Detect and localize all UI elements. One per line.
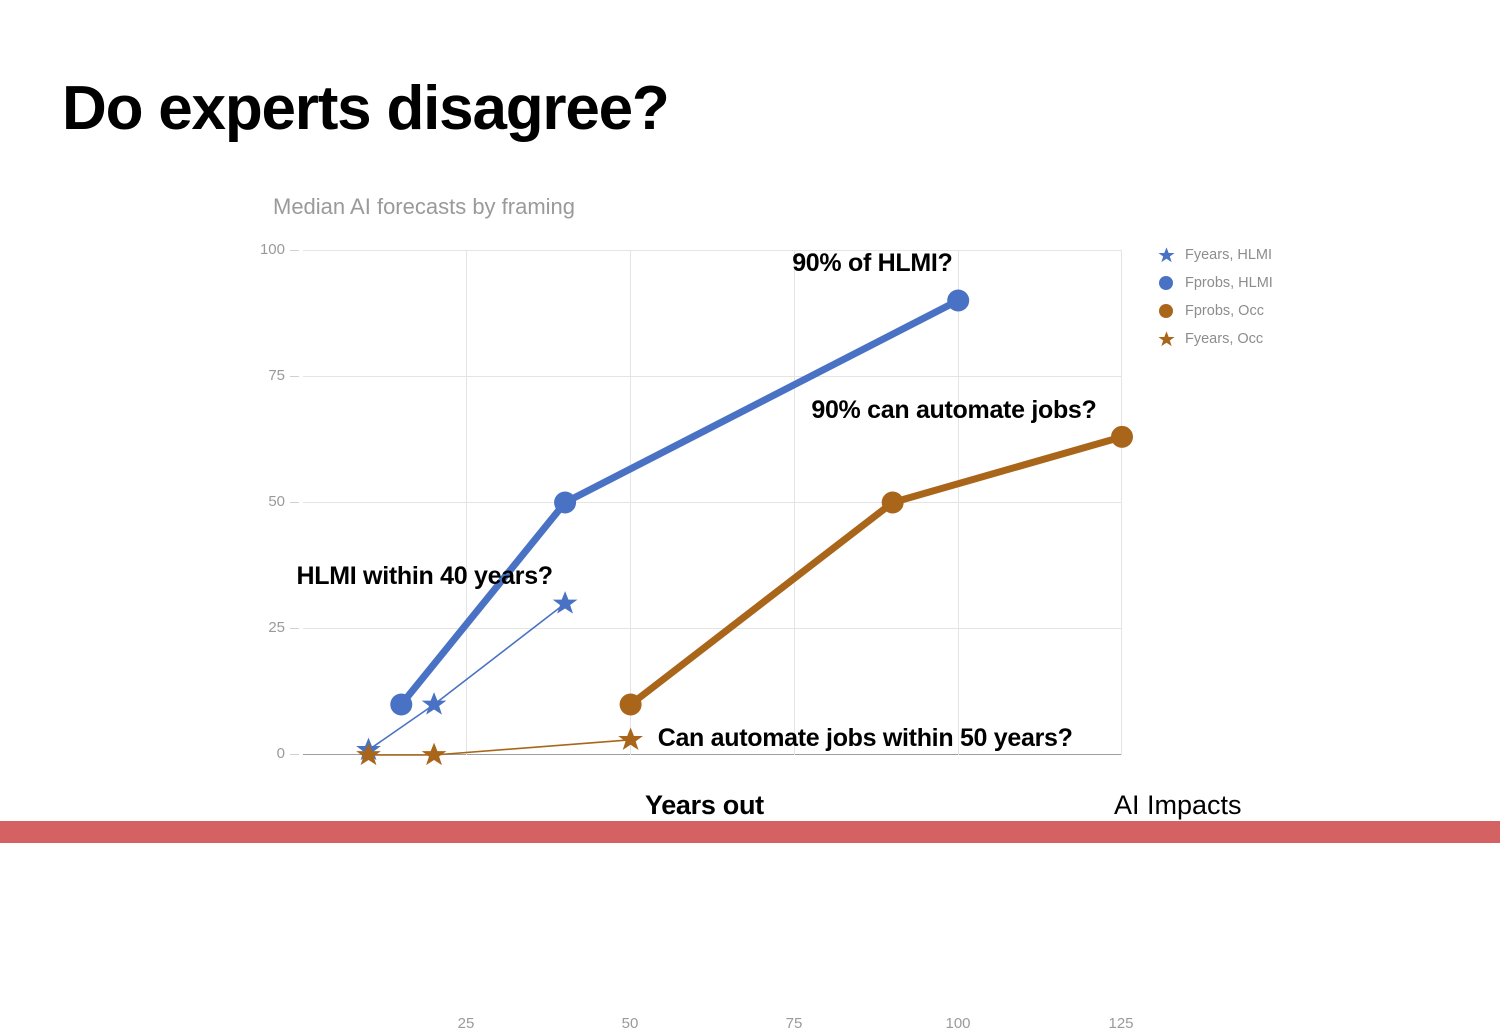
- x-axis-title: Years out: [645, 790, 764, 821]
- data-point-circle[interactable]: [1111, 426, 1133, 448]
- xtick-label-50: 50: [600, 1015, 660, 1032]
- ytick-label-100: 100: [245, 241, 285, 258]
- series-layer: [303, 250, 1122, 755]
- ytick-dash-100: [290, 250, 299, 251]
- data-point-circle[interactable]: [390, 694, 412, 716]
- xtick-label-100: 100: [928, 1015, 988, 1032]
- data-point-circle[interactable]: [554, 492, 576, 514]
- ytick-label-25: 25: [245, 619, 285, 636]
- legend-item-2[interactable]: Fprobs, Occ: [1156, 297, 1336, 325]
- ytick-dash-75: [290, 376, 299, 377]
- data-point-circle[interactable]: [947, 290, 969, 312]
- ytick-dash-50: [290, 502, 299, 503]
- ytick-dash-25: [290, 628, 299, 629]
- data-point-circle[interactable]: [882, 492, 904, 514]
- data-point-circle[interactable]: [620, 694, 642, 716]
- xtick-label-125: 125: [1091, 1015, 1151, 1032]
- data-point-star[interactable]: [356, 743, 381, 765]
- xtick-label-25: 25: [436, 1015, 496, 1032]
- star-icon: [1156, 329, 1176, 349]
- legend-item-label: Fyears, Occ: [1185, 331, 1263, 347]
- series-line-3: [369, 740, 631, 755]
- ytick-dash-0: [290, 754, 299, 755]
- circle-icon: [1156, 273, 1176, 293]
- legend-item-label: Fprobs, Occ: [1185, 303, 1264, 319]
- series-line-1: [401, 301, 958, 705]
- legend-item-1[interactable]: Fprobs, HLMI: [1156, 269, 1336, 297]
- source-attribution: AI Impacts: [1114, 790, 1242, 821]
- annotation-90-can-automate-jobs: 90% can automate jobs?: [811, 396, 1096, 425]
- chart-title: Median AI forecasts by framing: [273, 194, 575, 220]
- legend-item-label: Fyears, HLMI: [1185, 247, 1272, 263]
- chart-legend: Fyears, HLMIFprobs, HLMIFprobs, OccFyear…: [1156, 241, 1336, 353]
- ytick-label-75: 75: [245, 367, 285, 384]
- series-line-2: [631, 437, 1122, 705]
- annotation-can-automate-jobs-within-50-years: Can automate jobs within 50 years?: [658, 724, 1073, 753]
- legend-item-0[interactable]: Fyears, HLMI: [1156, 241, 1336, 269]
- annotation-hlmi-within-40-years: HLMI within 40 years?: [297, 562, 553, 591]
- xtick-label-75: 75: [764, 1015, 824, 1032]
- annotation-90-of-hlmi: 90% of HLMI?: [792, 249, 952, 278]
- circle-icon: [1156, 301, 1176, 321]
- legend-item-label: Fprobs, HLMI: [1185, 275, 1273, 291]
- data-point-star[interactable]: [618, 728, 643, 750]
- legend-item-3[interactable]: Fyears, Occ: [1156, 325, 1336, 353]
- accent-bar: [0, 821, 1500, 843]
- ytick-label-50: 50: [245, 493, 285, 510]
- star-icon: [1156, 245, 1176, 265]
- chart-container: Median AI forecasts by framing 100 75 50…: [0, 0, 1500, 843]
- ytick-label-0: 0: [245, 745, 285, 762]
